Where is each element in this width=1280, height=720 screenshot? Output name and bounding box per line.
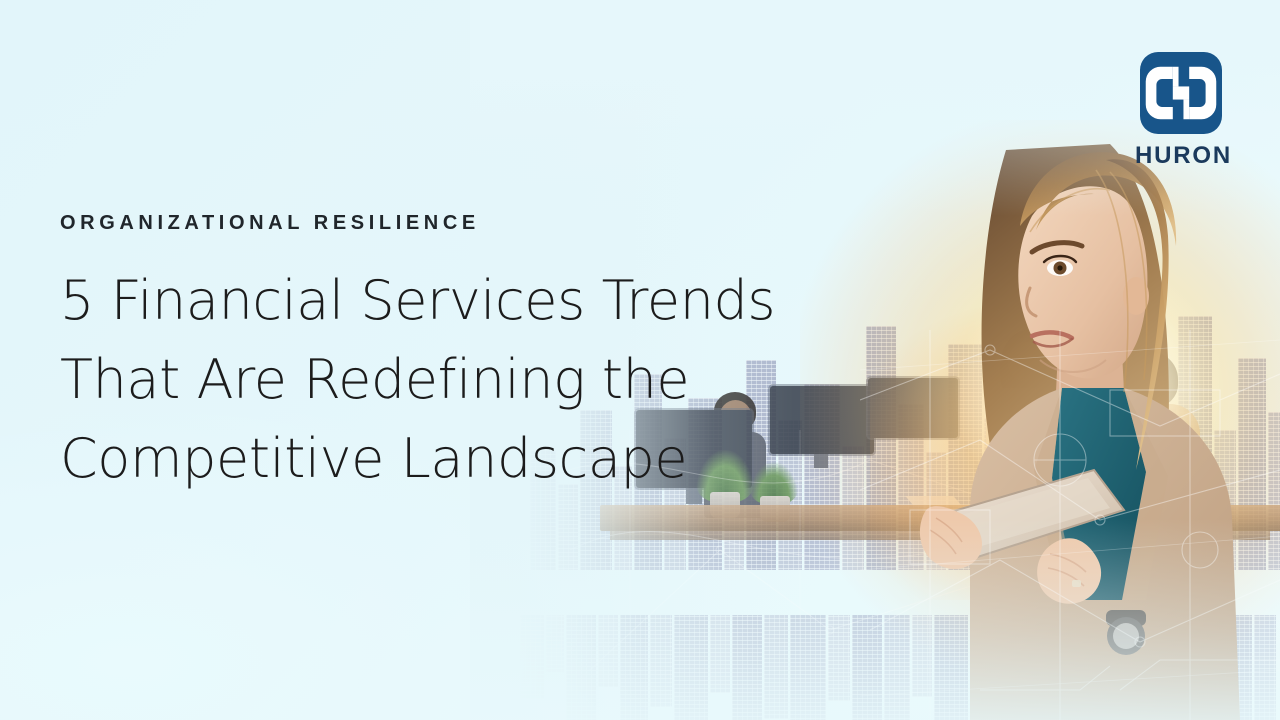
headline-line-1: 5 Financial Services Trends xyxy=(60,261,775,340)
huron-interlocking-h-logo-icon xyxy=(1140,52,1222,134)
page-title: 5 Financial Services Trends That Are Red… xyxy=(60,261,775,498)
wristwatch-icon xyxy=(1106,610,1146,655)
eyebrow-label: ORGANIZATIONAL RESILIENCE xyxy=(60,212,775,235)
hero-text-block: ORGANIZATIONAL RESILIENCE 5 Financial Se… xyxy=(60,212,775,498)
huron-wordmark: HURON xyxy=(1135,144,1227,168)
presentation-slide: ORGANIZATIONAL RESILIENCE 5 Financial Se… xyxy=(0,0,1280,720)
headline-line-2: That Are Redefining the xyxy=(60,340,775,419)
headline-line-3: Competitive Landscape xyxy=(60,419,775,498)
computer-monitor xyxy=(770,386,874,454)
huron-logo[interactable]: HURON xyxy=(1135,52,1227,168)
